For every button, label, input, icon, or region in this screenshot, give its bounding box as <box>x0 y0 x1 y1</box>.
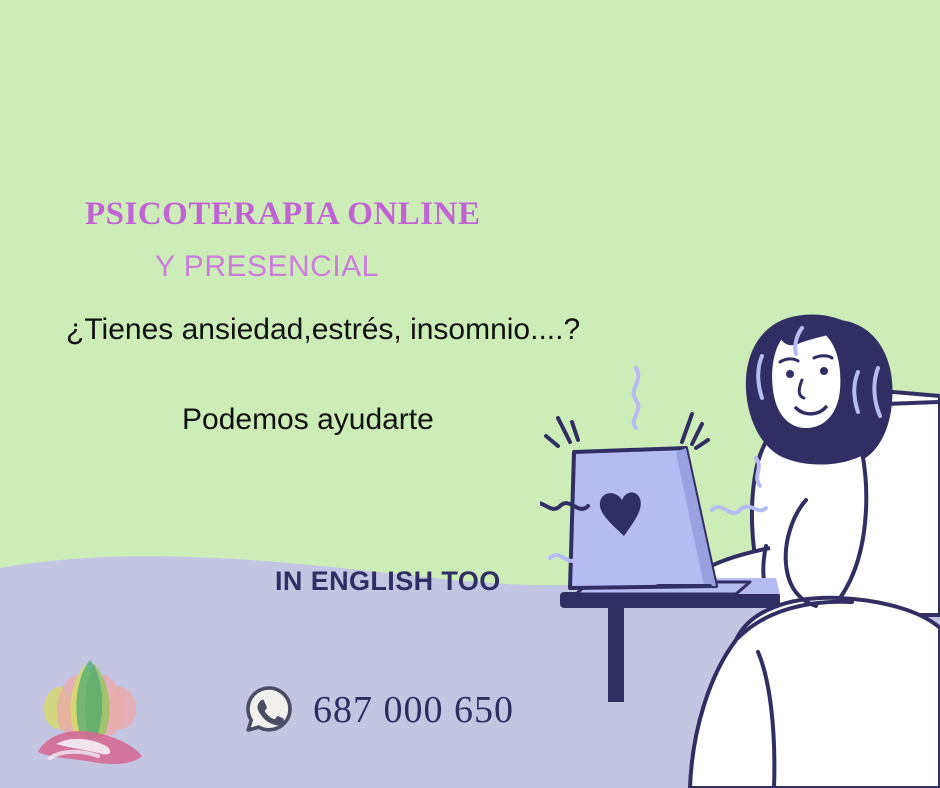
headline-secondary: Y PRESENCIAL <box>155 250 379 284</box>
lotus-petals <box>44 660 136 739</box>
sparkle-line-4 <box>682 414 692 442</box>
contact-row[interactable]: 687 000 650 <box>243 684 514 736</box>
english-availability-note: IN ENGLISH TOO <box>275 566 501 597</box>
sparkle-line-6 <box>696 440 708 448</box>
eye-left <box>786 370 794 378</box>
sparkle-line-3 <box>546 436 558 446</box>
question-text: ¿Tienes ansiedad,estrés, insomnio....? <box>66 313 580 347</box>
lotus-hand-logo <box>22 648 157 773</box>
eye-right <box>820 367 828 375</box>
legs <box>690 598 940 788</box>
woman-at-laptop-illustration <box>540 310 940 788</box>
whatsapp-icon[interactable] <box>243 684 295 736</box>
poster-canvas: PSICOTERAPIA ONLINE Y PRESENCIAL ¿Tienes… <box>0 0 940 788</box>
phone-number[interactable]: 687 000 650 <box>313 688 514 732</box>
offer-text: Podemos ayudarte <box>182 403 434 437</box>
lotus-hand <box>38 731 142 764</box>
headline-primary: PSICOTERAPIA ONLINE <box>85 196 481 233</box>
squiggle-lilac-vertical <box>756 458 760 486</box>
sparkle-line-2 <box>572 422 578 440</box>
sparkle-line-1 <box>558 418 570 442</box>
steam-squiggle <box>634 368 639 428</box>
sparkle-line-5 <box>692 424 702 444</box>
